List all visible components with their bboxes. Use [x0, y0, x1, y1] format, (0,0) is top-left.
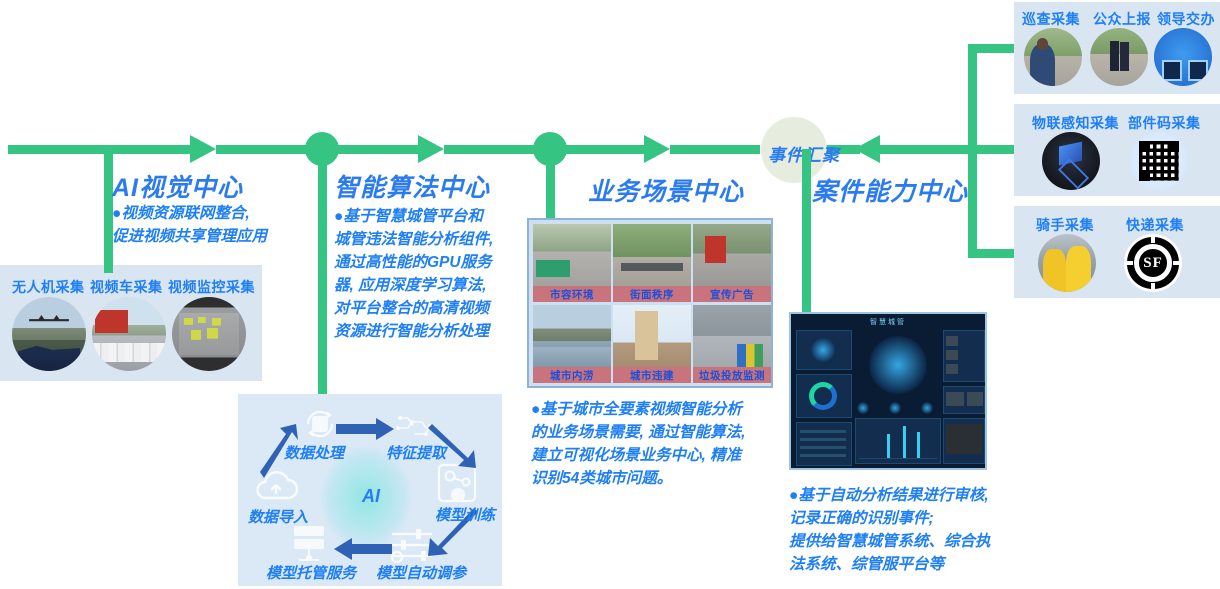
section-title-business-scene: 业务场景中心 [588, 172, 744, 208]
photo-iot-sensing-collection [1042, 132, 1100, 190]
scenario-thumb-4: 城市违建 [613, 305, 691, 383]
dashboard-screenshot: 智慧城管 [789, 312, 987, 470]
scenario-caption-2: 宣传广告 [693, 286, 771, 302]
section-title-ai-vision: AI视觉中心 [112, 168, 243, 204]
photo-drone-collection [12, 297, 86, 371]
scenario-thumb-2: 宣传广告 [693, 224, 771, 302]
scenario-thumb-5: 垃圾投放监测 [693, 305, 771, 383]
section-title-case-capability: 案件能力中心 [812, 172, 968, 208]
scenario-thumb-3: 城市内涝 [533, 305, 611, 383]
scenario-caption-1: 街面秩序 [613, 286, 691, 302]
bracket-branch-bottom [968, 249, 1016, 258]
flow-line-seg3 [330, 145, 422, 154]
right-label-iot-sensing: 物联感知采集 [1032, 113, 1119, 133]
flow-line-seg6 [670, 145, 760, 154]
ai-step-label-hosting: 模型托管服务 [266, 562, 356, 583]
right-label-component-code: 部件码采集 [1128, 113, 1201, 133]
scenario-caption-4: 城市违建 [613, 367, 691, 383]
scenario-caption-0: 市容环境 [533, 286, 611, 302]
scenario-thumb-1: 街面秩序 [613, 224, 691, 302]
ai-step-label-feature: 特征提取 [386, 442, 446, 463]
section-body-ai-vision: ●视频资源联网整合, 促进视频共享管理应用 [112, 202, 267, 248]
collection-label-video-monitor: 视频监控采集 [168, 277, 255, 297]
bracket-branch-top [968, 44, 1016, 53]
scenario-thumb-0: 市容环境 [533, 224, 611, 302]
photo-express-collection: SF [1124, 234, 1182, 292]
section-title-smart-algorithm: 智能算法中心 [334, 168, 490, 204]
right-label-leader-dispatch: 领导交办 [1157, 9, 1215, 29]
ai-step-label-tuning: 模型自动调参 [376, 562, 466, 583]
ai-center-label: AI [362, 486, 380, 507]
collection-label-video-car: 视频车采集 [90, 277, 163, 297]
section-body-smart-algorithm: ●基于智慧城管平台和 城管违法智能分析组件, 通过高性能的GPU服务 器, 应用… [334, 205, 493, 343]
photo-leader-dispatch-collection [1154, 28, 1212, 86]
right-label-rider: 骑手采集 [1036, 215, 1094, 235]
stem-smart-algorithm [318, 149, 327, 399]
right-label-inspection: 巡查采集 [1022, 9, 1080, 29]
photo-video-monitor-collection [172, 297, 246, 371]
bracket-branch-mid [968, 145, 1016, 154]
flow-arrow-1 [190, 135, 216, 163]
sf-logo-text: SF [1124, 234, 1182, 292]
stem-case-capability [802, 149, 811, 312]
photo-public-report-collection [1090, 28, 1148, 86]
scenario-caption-5: 垃圾投放监测 [693, 367, 771, 383]
ai-step-label-training: 模型训练 [435, 504, 495, 525]
photo-qr-code-collection [1130, 132, 1188, 190]
ai-step-label-process: 数据处理 [284, 442, 344, 463]
right-label-public-report: 公众上报 [1093, 9, 1151, 29]
section-body-business-scene: ●基于城市全要素视频智能分析 的业务场景需要, 通过智能算法, 建立可视化场景业… [531, 398, 745, 490]
diagram-canvas: 无人机采集 视频车采集 视频监控采集 事件汇聚 AI视觉中心 ●视频资源联网整合… [0, 0, 1220, 589]
scenario-caption-3: 城市内涝 [533, 367, 611, 383]
flow-line-seg5 [556, 145, 648, 154]
section-body-case-capability: ●基于自动分析结果进行审核, 记录正确的识别事件; 提供给智慧城管系统、综合执 … [789, 484, 991, 576]
ai-arrow-tuning-to-hosting [334, 536, 392, 562]
right-label-express: 快递采集 [1126, 215, 1184, 235]
ai-step-label-import: 数据导入 [248, 506, 308, 527]
ai-arrow-process-to-feature [336, 416, 394, 442]
photo-inspection-collection [1024, 28, 1082, 86]
collection-label-drone: 无人机采集 [12, 277, 85, 297]
flow-line-right [880, 145, 980, 154]
photo-rider-collection [1038, 234, 1096, 292]
dashboard-title: 智慧城管 [791, 317, 985, 327]
refresh-square-icon [300, 404, 340, 444]
server-rack-icon [288, 522, 332, 564]
photo-video-car-collection [92, 297, 166, 371]
ai-workflow-panel: AI [238, 394, 502, 586]
stem-business-scene [546, 149, 555, 221]
flow-line-main [8, 145, 190, 154]
